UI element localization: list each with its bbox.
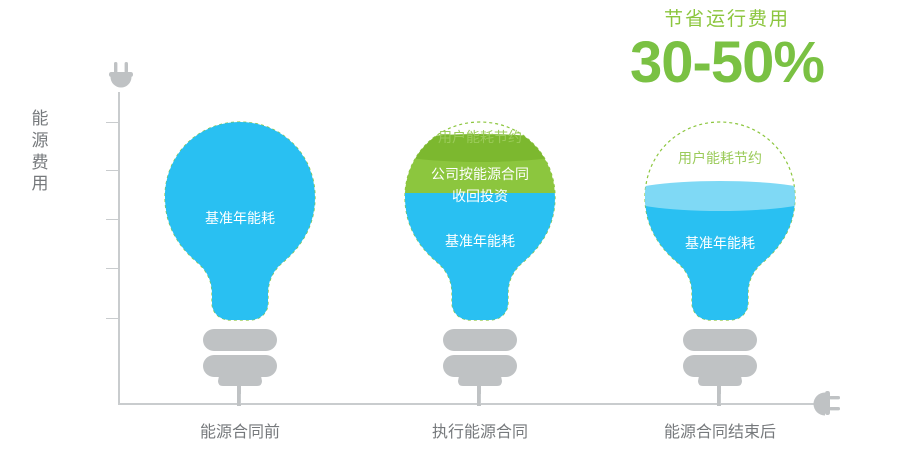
x-tick-mark	[240, 394, 241, 404]
infographic-canvas: 节省运行费用 30-50% 能 源 费 用 100% 75% 50% 25% 0…	[0, 0, 900, 473]
bulb-chart-2	[380, 96, 580, 408]
headline-value: 30-50%	[602, 33, 852, 94]
x-tick-mark	[720, 394, 721, 404]
bulb-group-during-contract: 用户能耗节约 公司按能源合同 收回投资 基准年能耗	[380, 96, 580, 408]
bulb-group-after-contract: 用户能耗节约 基准年能耗	[620, 96, 820, 408]
y-axis-title-char: 能	[28, 108, 52, 130]
headline-block: 节省运行费用 30-50%	[602, 8, 852, 94]
y-tick-mark	[106, 122, 119, 123]
x-axis-label-after-contract: 能源合同结束后	[610, 418, 830, 442]
bulb-group-before-contract: 基准年能耗	[140, 96, 340, 408]
y-tick-mark	[106, 318, 119, 319]
y-axis-title-char: 用	[28, 173, 52, 195]
bulb-liquid-surface	[380, 134, 580, 162]
bulb-chart-1	[140, 96, 340, 408]
y-tick-mark	[106, 170, 119, 171]
y-tick-mark	[106, 219, 119, 220]
bulb-fill-baseline	[380, 193, 580, 333]
bulb-fill-baseline	[620, 196, 820, 336]
plug-icon	[104, 62, 138, 94]
bulb-base-tip	[458, 367, 502, 386]
y-tick-mark	[106, 268, 119, 269]
bulb-base-ring	[443, 329, 517, 351]
x-axis-label-before-contract: 能源合同前	[130, 418, 350, 442]
bulb-fill-baseline	[140, 122, 340, 322]
x-tick-mark	[480, 394, 481, 404]
y-axis-title: 能 源 费 用	[28, 108, 52, 195]
x-axis-label-during-contract: 执行能源合同	[370, 418, 590, 442]
y-axis-title-char: 源	[28, 130, 52, 152]
y-axis-title-char: 费	[28, 152, 52, 174]
bulb-base-ring	[683, 329, 757, 351]
bulb-base-tip	[698, 367, 742, 386]
y-axis-line	[118, 92, 120, 404]
bulb-base-tip	[218, 367, 262, 386]
bulb-chart-3	[620, 96, 820, 408]
bulb-liquid-surface	[620, 181, 820, 211]
headline-subtitle: 节省运行费用	[602, 8, 852, 33]
bulb-base-ring	[203, 329, 277, 351]
